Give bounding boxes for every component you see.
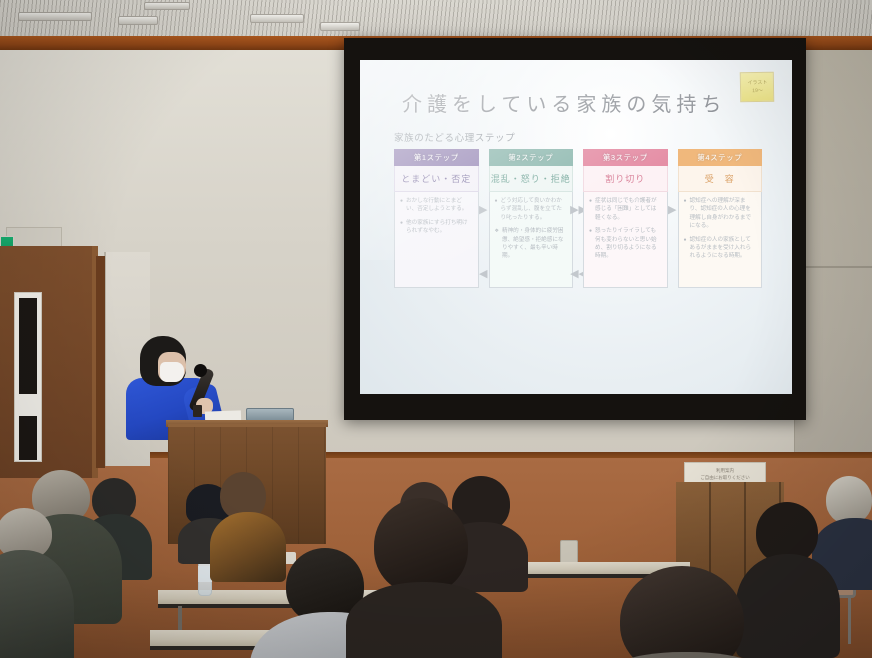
sticky-note-line2: 19〜: [745, 87, 770, 95]
step-1-name: とまどい・否定: [394, 166, 479, 192]
step-1-body: ●おかしな行動にとまどい、否定しようとする。 ●他の家族にすら打ち明けられずなや…: [394, 192, 479, 288]
bullet-text: おかしな行動にとまどい、否定しようとする。: [406, 197, 472, 214]
bullet-text: 認知症への理解が深まり、認知症の人の心理を理解し自身がわかるまでになる。: [690, 197, 756, 231]
sticky-note: イラスト 19〜: [740, 72, 775, 103]
bullet-item: ●他の家族にすら打ち明けられずなやむ。: [400, 219, 473, 236]
ceiling-vent-icon: [320, 22, 360, 31]
audience-shoulders: [346, 582, 502, 658]
projection-screen-frame: イラスト 19〜 介護をしている家族の気持ち 家族のたどる心理ステップ 第1ステ…: [344, 38, 806, 420]
step-4-body: ●認知症への理解が深まり、認知症の人の心理を理解し自身がわかるまでになる。 ●認…: [678, 192, 763, 288]
bullet-text: 他の家族にすら打ち明けられずなやむ。: [406, 219, 472, 236]
bullet-text: どう対応して良いかわからず混乱し、腹を立てたり叱ったりする。: [501, 197, 567, 222]
step-column-3: 第3ステップ 割り切り ●症状は同じでも介護者が感じる「困難」としては軽くなる。…: [583, 149, 668, 288]
step-4-name: 受 容: [678, 166, 763, 192]
forward-arrow-3-icon: ▶: [668, 205, 676, 216]
cabinet-sign: 利用案内 ご自由にお取りください: [684, 462, 766, 484]
sticky-note-line1: イラスト: [745, 80, 770, 88]
back-arrow-1-icon: ◀: [479, 269, 487, 280]
alcove-post: [96, 256, 105, 468]
bullet-item: ●怒ったりイライラしても何も変わらないと思い始め、割り切るようになる時期。: [589, 227, 662, 261]
ceiling-vent-icon: [118, 16, 158, 25]
slide-title: 介護をしている家族の気持ち: [402, 88, 776, 117]
door-glass-upper: [19, 298, 37, 394]
audience-head: [374, 498, 468, 594]
bullet-item: ●認知症の人の家族としてあるがままを受け入れられるようになる時期。: [684, 236, 757, 261]
presentation-slide: イラスト 19〜 介護をしている家族の気持ち 家族のたどる心理ステップ 第1ステ…: [360, 60, 792, 394]
audience-shoulders: [736, 554, 840, 658]
door-glass-lower: [19, 416, 37, 460]
step-2-body: ●どう対応して良いかわからず混乱し、腹を立てたり叱ったりする。 ❖精神的・身体的…: [489, 192, 574, 288]
cabinet-sign-line2: ご自由にお取りください: [685, 475, 765, 482]
chair-leg: [848, 596, 851, 644]
step-1-header: 第1ステップ: [394, 149, 479, 166]
step-column-2: 第2ステップ 混乱・怒り・拒絶 ●どう対応して良いかわからず混乱し、腹を立てたり…: [489, 149, 574, 288]
projection-screen-surface: イラスト 19〜 介護をしている家族の気持ち 家族のたどる心理ステップ 第1ステ…: [360, 60, 792, 394]
bullet-item: ●症状は同じでも介護者が感じる「困難」としては軽くなる。: [589, 197, 662, 222]
bullet-dot-icon: ●: [400, 197, 403, 214]
cup-on-podium: [193, 405, 202, 417]
ceiling-air-diffuser-icon: [144, 2, 190, 10]
forward-arrow-1-icon: ▶: [479, 205, 487, 216]
step-3-name: 割り切り: [583, 166, 668, 192]
step-2-header: 第2ステップ: [489, 149, 574, 166]
bullet-dot-icon: ●: [684, 197, 687, 231]
bullet-dot-icon: ●: [400, 219, 403, 236]
bullet-dot-icon: ●: [495, 197, 498, 222]
step-column-4: 第4ステップ 受 容 ●認知症への理解が深まり、認知症の人の心理を理解し自身がわ…: [678, 149, 763, 288]
bullet-item: ❖精神的・身体的に疲労困憊、絶望感・拒絶感になりやすく、最も辛い時期。: [495, 227, 568, 261]
bullet-text: 症状は同じでも介護者が感じる「困難」としては軽くなる。: [595, 197, 661, 222]
bullet-dot-icon: ●: [684, 236, 687, 261]
step-4-header: 第4ステップ: [678, 149, 763, 166]
bullet-item: ●認知症への理解が深まり、認知症の人の心理を理解し自身がわかるまでになる。: [684, 197, 757, 231]
cabinet-sign-line1: 利用案内: [685, 468, 765, 475]
bullet-text: 精神的・身体的に疲労困憊、絶望感・拒絶感になりやすく、最も辛い時期。: [502, 227, 567, 261]
bullet-dot-icon: ❖: [495, 227, 499, 261]
ceiling-vent-icon: [18, 12, 92, 21]
psychological-steps-diagram: 第1ステップ とまどい・否定 ●おかしな行動にとまどい、否定しようとする。 ●他…: [394, 149, 762, 288]
lecture-room-photo: イラスト 19〜 介護をしている家族の気持ち 家族のたどる心理ステップ 第1ステ…: [0, 0, 872, 658]
face-mask-icon: [160, 362, 184, 382]
bullet-text: 怒ったりイライラしても何も変わらないと思い始め、割り切るようになる時期。: [595, 227, 661, 261]
slide-subtitle: 家族のたどる心理ステップ: [394, 130, 776, 144]
bullet-dot-icon: ●: [589, 227, 592, 261]
bullet-item: ●おかしな行動にとまどい、否定しようとする。: [400, 197, 473, 214]
step-column-1: 第1ステップ とまどい・否定 ●おかしな行動にとまどい、否定しようとする。 ●他…: [394, 149, 479, 288]
step-2-name: 混乱・怒り・拒絶: [489, 166, 574, 192]
step-3-header: 第3ステップ: [583, 149, 668, 166]
audience-shoulders: [210, 512, 286, 582]
step-3-body: ●症状は同じでも介護者が感じる「困難」としては軽くなる。 ●怒ったりイライラして…: [583, 192, 668, 288]
bullet-text: 認知症の人の家族としてあるがままを受け入れられるようになる時期。: [690, 236, 756, 261]
bullet-item: ●どう対応して良いかわからず混乱し、腹を立てたり叱ったりする。: [495, 197, 568, 222]
ceiling-vent-icon: [250, 14, 304, 23]
bullet-dot-icon: ●: [589, 197, 592, 222]
audience-head: [826, 476, 872, 524]
